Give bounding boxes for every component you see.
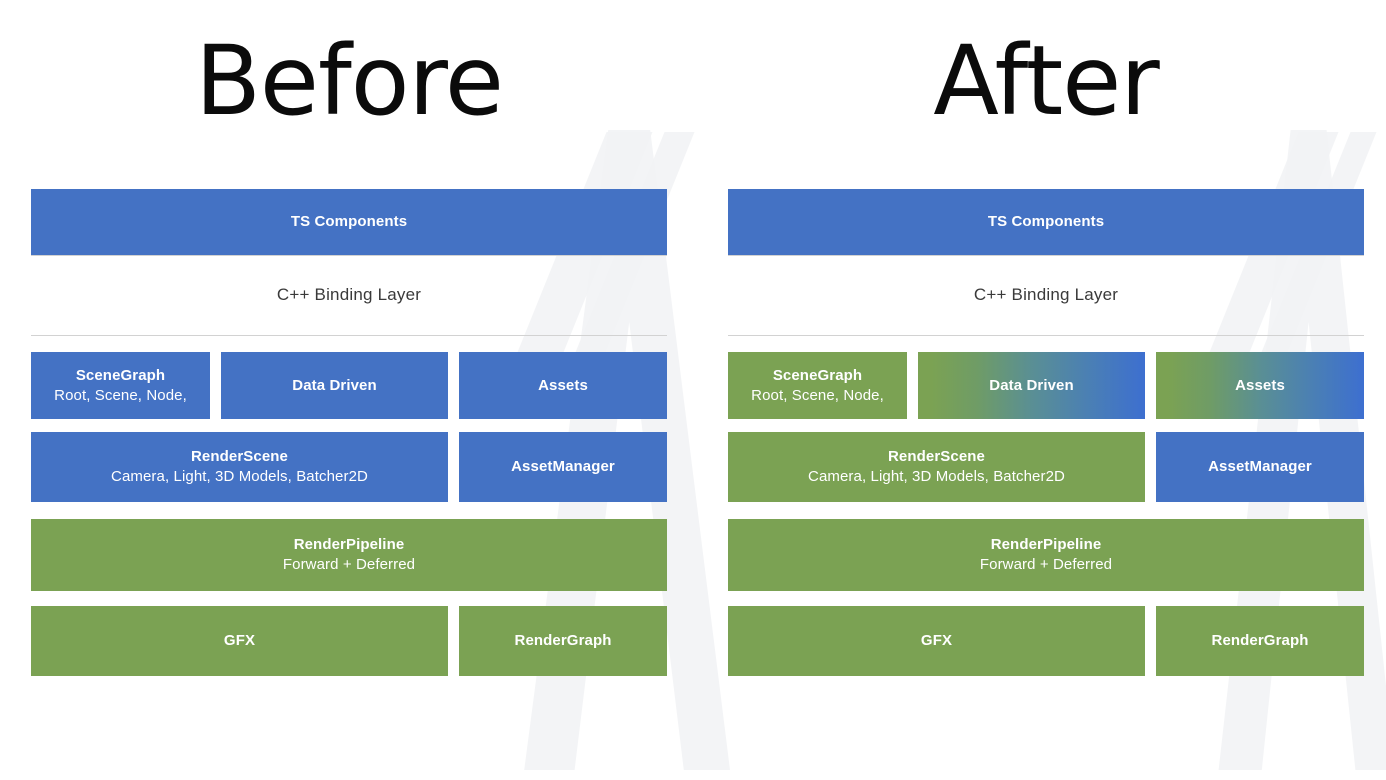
column-title-before: Before bbox=[31, 0, 667, 153]
box-subtitle: Forward + Deferred bbox=[283, 555, 415, 575]
box-title: Data Driven bbox=[989, 376, 1073, 396]
box-assetmanager-after[interactable]: AssetManager bbox=[1156, 432, 1364, 502]
spacer bbox=[448, 432, 459, 502]
box-title: SceneGraph bbox=[76, 366, 165, 386]
spacer bbox=[448, 606, 459, 676]
row-pipeline-after: RenderPipeline Forward + Deferred bbox=[728, 519, 1364, 591]
box-title: RenderPipeline bbox=[294, 535, 405, 555]
box-title: Assets bbox=[1235, 376, 1285, 396]
box-title: RenderGraph bbox=[1212, 631, 1309, 651]
row-ts-components-after: TS Components bbox=[728, 189, 1364, 255]
box-title: GFX bbox=[921, 631, 952, 651]
binding-layer-label-before: C++ Binding Layer bbox=[31, 255, 667, 335]
spacer bbox=[448, 352, 459, 419]
spacer bbox=[1145, 352, 1156, 419]
box-ts-components-before[interactable]: TS Components bbox=[31, 189, 667, 255]
box-assets-before[interactable]: Assets bbox=[459, 352, 667, 419]
column-title-after: After bbox=[728, 0, 1364, 153]
binding-rule-bottom bbox=[728, 335, 1364, 336]
box-title: RenderScene bbox=[191, 447, 288, 467]
box-subtitle: Root, Scene, Node, bbox=[751, 386, 884, 406]
box-data-driven-before[interactable]: Data Driven bbox=[221, 352, 448, 419]
box-title: RenderGraph bbox=[515, 631, 612, 651]
box-assets-after[interactable]: Assets bbox=[1156, 352, 1364, 419]
box-title: AssetManager bbox=[511, 457, 615, 477]
box-subtitle: Camera, Light, 3D Models, Batcher2D bbox=[111, 467, 368, 487]
binding-rule-bottom bbox=[31, 335, 667, 336]
row-middle-before: SceneGraph Root, Scene, Node, Data Drive… bbox=[31, 352, 667, 419]
row-render-before: RenderScene Camera, Light, 3D Models, Ba… bbox=[31, 432, 667, 502]
box-ts-components-after[interactable]: TS Components bbox=[728, 189, 1364, 255]
row-render-after: RenderScene Camera, Light, 3D Models, Ba… bbox=[728, 432, 1364, 502]
comparison-diagram: Before TS Components C++ Binding Layer S… bbox=[0, 0, 1386, 780]
box-gfx-after[interactable]: GFX bbox=[728, 606, 1145, 676]
box-renderpipeline-after[interactable]: RenderPipeline Forward + Deferred bbox=[728, 519, 1364, 591]
box-data-driven-after[interactable]: Data Driven bbox=[918, 352, 1145, 419]
box-gfx-before[interactable]: GFX bbox=[31, 606, 448, 676]
box-renderpipeline-before[interactable]: RenderPipeline Forward + Deferred bbox=[31, 519, 667, 591]
spacer bbox=[210, 352, 221, 419]
box-title: RenderPipeline bbox=[991, 535, 1102, 555]
box-subtitle: Root, Scene, Node, bbox=[54, 386, 187, 406]
box-subtitle: Forward + Deferred bbox=[980, 555, 1112, 575]
row-pipeline-before: RenderPipeline Forward + Deferred bbox=[31, 519, 667, 591]
box-scenegraph-after[interactable]: SceneGraph Root, Scene, Node, bbox=[728, 352, 907, 419]
box-title: TS Components bbox=[291, 212, 407, 232]
box-title: TS Components bbox=[988, 212, 1104, 232]
row-gfx-before: GFX RenderGraph bbox=[31, 606, 667, 676]
binding-layer-after: C++ Binding Layer bbox=[728, 255, 1364, 352]
box-renderscene-after[interactable]: RenderScene Camera, Light, 3D Models, Ba… bbox=[728, 432, 1145, 502]
box-scenegraph-before[interactable]: SceneGraph Root, Scene, Node, bbox=[31, 352, 210, 419]
spacer bbox=[907, 352, 918, 419]
box-title: Data Driven bbox=[292, 376, 376, 396]
box-rendergraph-after[interactable]: RenderGraph bbox=[1156, 606, 1364, 676]
box-title: AssetManager bbox=[1208, 457, 1312, 477]
box-assetmanager-before[interactable]: AssetManager bbox=[459, 432, 667, 502]
box-title: Assets bbox=[538, 376, 588, 396]
column-before: Before TS Components C++ Binding Layer S… bbox=[31, 0, 667, 153]
box-title: RenderScene bbox=[888, 447, 985, 467]
spacer bbox=[1145, 432, 1156, 502]
binding-layer-before: C++ Binding Layer bbox=[31, 255, 667, 352]
box-title: SceneGraph bbox=[773, 366, 862, 386]
binding-layer-label-after: C++ Binding Layer bbox=[728, 255, 1364, 335]
spacer bbox=[1145, 606, 1156, 676]
row-gfx-after: GFX RenderGraph bbox=[728, 606, 1364, 676]
layer-stack-before: TS Components C++ Binding Layer SceneGra… bbox=[31, 189, 667, 676]
column-after: After TS Components C++ Binding Layer Sc… bbox=[728, 0, 1364, 153]
box-renderscene-before[interactable]: RenderScene Camera, Light, 3D Models, Ba… bbox=[31, 432, 448, 502]
box-rendergraph-before[interactable]: RenderGraph bbox=[459, 606, 667, 676]
row-middle-after: SceneGraph Root, Scene, Node, Data Drive… bbox=[728, 352, 1364, 419]
box-subtitle: Camera, Light, 3D Models, Batcher2D bbox=[808, 467, 1065, 487]
layer-stack-after: TS Components C++ Binding Layer SceneGra… bbox=[728, 189, 1364, 676]
row-ts-components-before: TS Components bbox=[31, 189, 667, 255]
box-title: GFX bbox=[224, 631, 255, 651]
